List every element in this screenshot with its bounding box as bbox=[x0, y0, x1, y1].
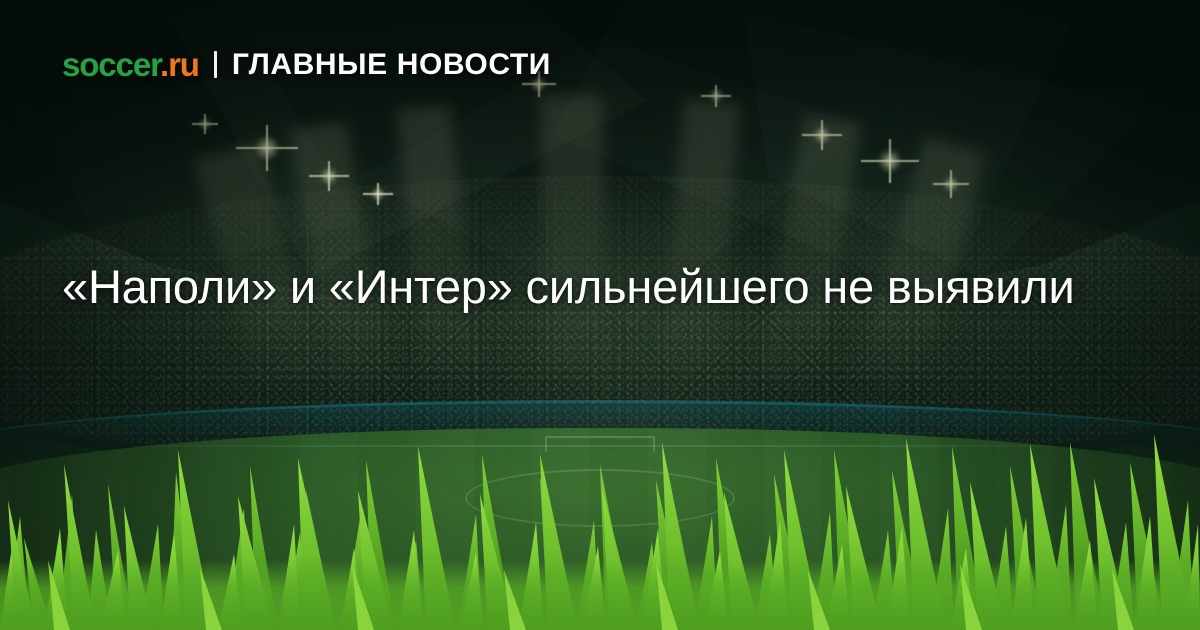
page-headline: «Наполи» и «Интер» сильнейшего не выявил… bbox=[62, 258, 1154, 315]
section-title: ГЛАВНЫЕ НОВОСТИ bbox=[232, 50, 551, 80]
header-bar: soccer.ru ГЛАВНЫЕ НОВОСТИ bbox=[62, 48, 551, 81]
header-separator bbox=[214, 51, 217, 78]
logo-tld: .ru bbox=[160, 46, 199, 83]
news-cover-card: soccer.ru ГЛАВНЫЕ НОВОСТИ «Наполи» и «Ин… bbox=[0, 0, 1200, 630]
soccer-ru-logo[interactable]: soccer.ru bbox=[62, 48, 199, 81]
foreground-grass bbox=[0, 420, 1200, 630]
logo-name: soccer bbox=[62, 46, 160, 83]
